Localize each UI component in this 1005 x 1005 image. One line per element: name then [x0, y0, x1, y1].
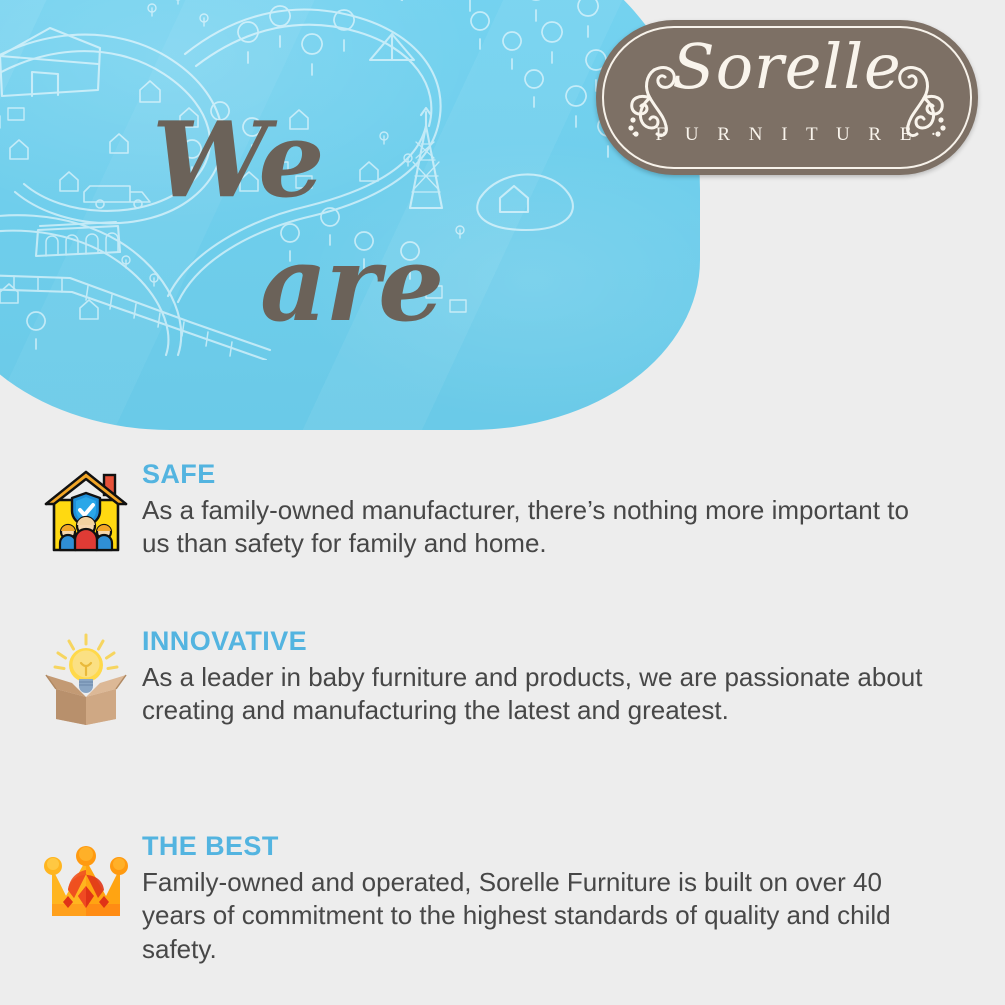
feature-item-innovative: INNOVATIVE As a leader in baby furniture…: [30, 625, 965, 728]
feature-body: As a leader in baby furniture and produc…: [142, 661, 932, 728]
sorelle-logo[interactable]: Sorelle · F U R N I T U R E ·: [596, 20, 978, 175]
feature-text-block: THE BEST Family-owned and operated, Sore…: [142, 830, 965, 966]
feature-title: INNOVATIVE: [142, 627, 965, 656]
feature-title: SAFE: [142, 460, 965, 489]
feature-body: Family-owned and operated, Sorelle Furni…: [142, 866, 932, 966]
landscape-doodle-pattern-icon: [0, 0, 640, 360]
feature-text-block: SAFE As a family-owned manufacturer, the…: [142, 458, 965, 561]
feature-title: THE BEST: [142, 832, 965, 861]
hero-blue-blob: We are: [0, 0, 700, 430]
infographic-page: We are: [0, 0, 1005, 1005]
crown-icon: [38, 834, 134, 930]
lightbulb-in-box-icon: [38, 629, 134, 725]
logo-subtitle: · F U R N I T U R E ·: [596, 124, 978, 146]
feature-item-safe: SAFE As a family-owned manufacturer, the…: [30, 458, 965, 561]
feature-body: As a family-owned manufacturer, there’s …: [142, 494, 932, 561]
feature-icon-wrapper: [30, 458, 142, 558]
feature-list: SAFE As a family-owned manufacturer, the…: [0, 432, 1005, 1005]
feature-icon-wrapper: [30, 625, 142, 725]
feature-text-block: INNOVATIVE As a leader in baby furniture…: [142, 625, 965, 728]
house-family-shield-icon: [38, 462, 134, 558]
hero-section: We are: [0, 0, 1005, 430]
logo-brand-name: Sorelle: [596, 36, 978, 98]
feature-icon-wrapper: [30, 830, 142, 930]
feature-item-the-best: THE BEST Family-owned and operated, Sore…: [30, 830, 965, 966]
